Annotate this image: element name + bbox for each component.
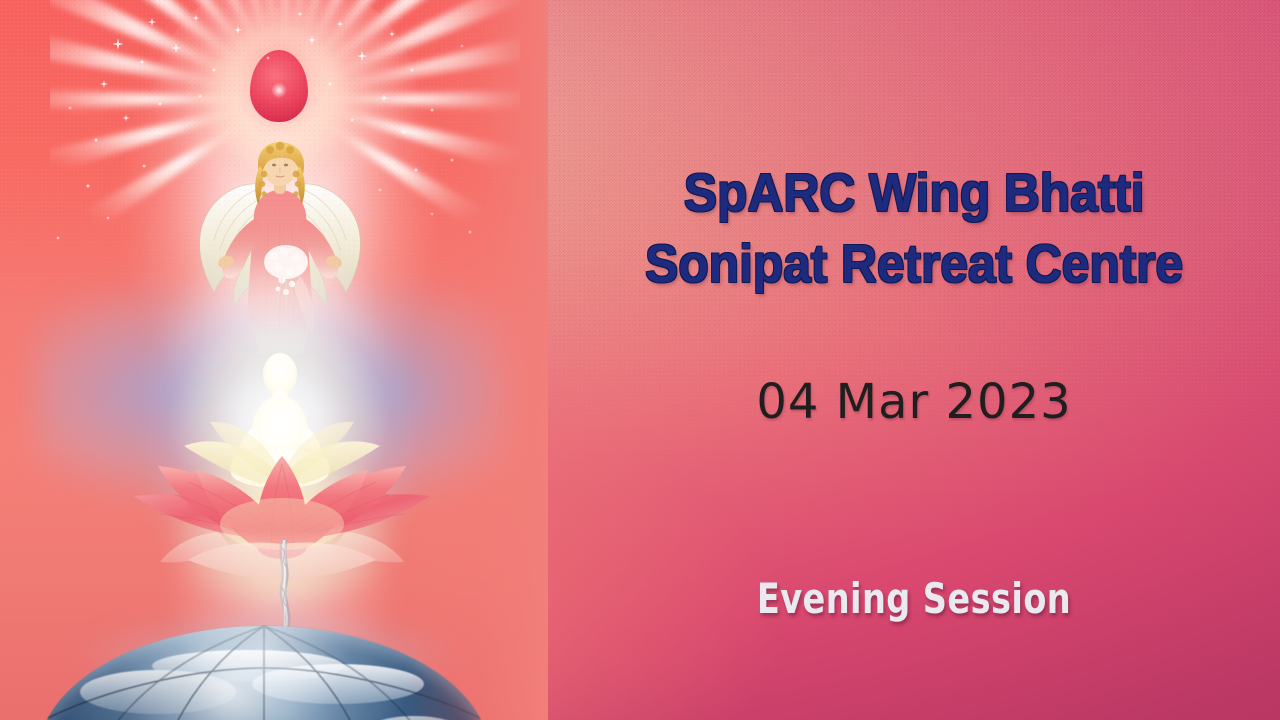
- slide-title-line-1: SpARC Wing Bhatti: [574, 158, 1255, 229]
- text-panel: SpARC Wing Bhatti Sonipat Retreat Centre…: [548, 0, 1280, 720]
- slide-date: 04 Mar 2023: [548, 378, 1280, 426]
- slide-canvas: SpARC Wing Bhatti Sonipat Retreat Centre…: [0, 0, 1280, 720]
- spiritual-artwork-panel: [0, 0, 548, 720]
- slide-title: SpARC Wing Bhatti Sonipat Retreat Centre: [574, 158, 1255, 301]
- slide-session-label: Evening Session: [621, 578, 1207, 620]
- slide-title-line-2: Sonipat Retreat Centre: [574, 229, 1255, 300]
